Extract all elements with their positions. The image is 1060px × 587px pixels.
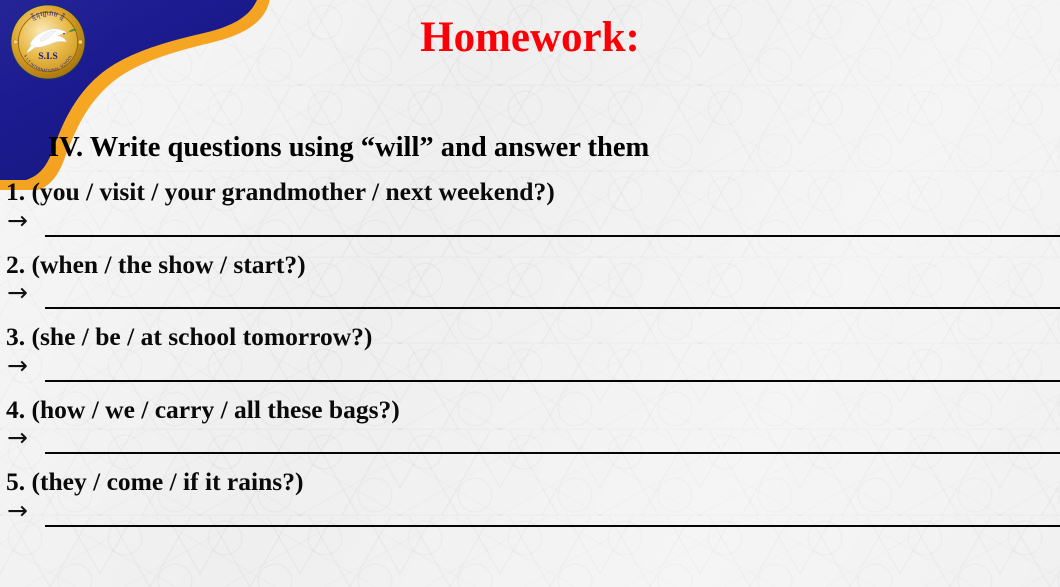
arrow-right-icon: → [7,498,28,523]
answer-row[interactable]: → [0,497,1060,541]
arrow-right-icon: → [7,353,28,378]
arrow-right-icon: → [7,280,28,305]
answer-row[interactable]: → [0,279,1060,323]
question-prompt: 5. (they / come / if it rains?) [0,468,1060,497]
answer-row[interactable]: → [0,352,1060,396]
answer-blank-line[interactable] [45,307,1060,309]
answer-row[interactable]: → [0,424,1060,468]
list-item: 5. (they / come / if it rains?) → [0,468,1060,541]
question-prompt: 2. (when / the show / start?) [0,251,1060,280]
question-prompt: 1. (you / visit / your grandmother / nex… [0,178,1060,207]
answer-blank-line[interactable] [45,452,1060,454]
answer-blank-line[interactable] [45,380,1060,382]
list-item: 2. (when / the show / start?) → [0,251,1060,324]
answer-row[interactable]: → [0,207,1060,251]
page-title: Homework: [0,16,1060,59]
answer-blank-line[interactable] [45,235,1060,237]
answer-blank-line[interactable] [45,525,1060,527]
question-prompt: 3. (she / be / at school tomorrow?) [0,323,1060,352]
list-item: 1. (you / visit / your grandmother / nex… [0,178,1060,251]
arrow-right-icon: → [7,208,28,233]
questions-list: 1. (you / visit / your grandmother / nex… [0,178,1060,541]
question-prompt: 4. (how / we / carry / all these bags?) [0,396,1060,425]
list-item: 3. (she / be / at school tomorrow?) → [0,323,1060,396]
homework-slide: ខ្មិនុព្ពោរាម ខ្មិ S.I.S INTERNATIONAL S… [0,0,1060,587]
list-item: 4. (how / we / carry / all these bags?) … [0,396,1060,469]
exercise-instruction: IV. Write questions using “will” and ans… [48,132,649,164]
arrow-right-icon: → [7,425,28,450]
